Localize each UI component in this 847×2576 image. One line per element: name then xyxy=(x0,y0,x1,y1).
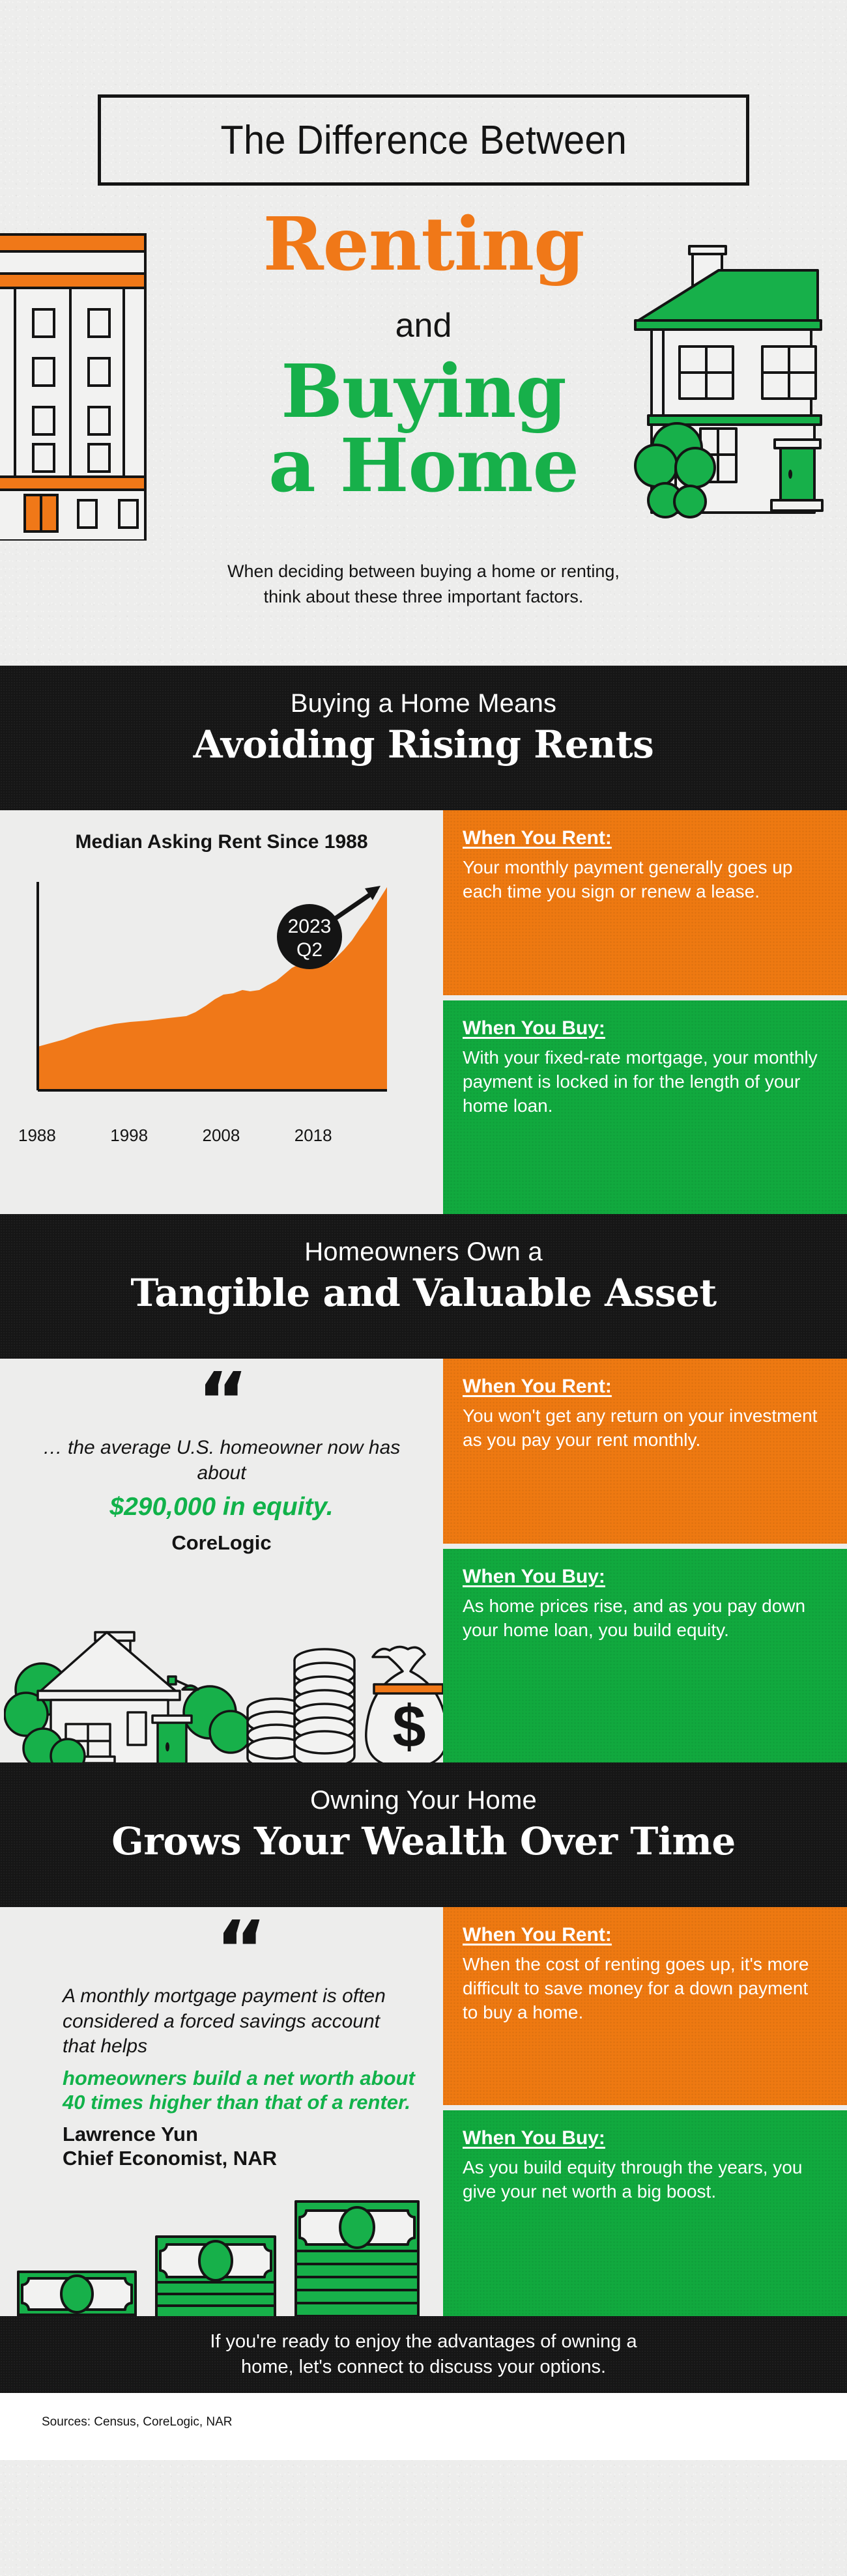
panel-divider xyxy=(443,995,847,1000)
section-3-rent-body: When the cost of renting goes up, it's m… xyxy=(463,1953,825,2025)
section-2-panels: When You Rent: You won't get any return … xyxy=(443,1359,847,1762)
section-3-rent-panel: When You Rent: When the cost of renting … xyxy=(443,1907,847,2105)
yun-quote-source-title: Chief Economist, NAR xyxy=(63,2146,417,2170)
equity-quote-column: “ … the average U.S. homeowner now has a… xyxy=(0,1359,443,1762)
word-buying-line1: Buying xyxy=(281,349,566,434)
quote-mark-icon: “ xyxy=(63,1927,417,1975)
wealth-quote-column: “ A monthly mortgage payment is often co… xyxy=(0,1907,443,2316)
section-2-rent-body: You won't get any return on your investm… xyxy=(463,1404,825,1452)
section-2-buy-heading: When You Buy: xyxy=(463,1566,825,1588)
house-coins-moneybag-illustration: $ xyxy=(4,1592,443,1762)
footer-cta: If you're ready to enjoy the advantages … xyxy=(210,2329,637,2380)
hero-subtitle: When deciding between buying a home or r… xyxy=(0,559,847,610)
yun-quote-text: A monthly mortgage payment is often cons… xyxy=(63,1984,417,2059)
word-renting: Renting xyxy=(0,208,847,281)
section-1-rent-heading: When You Rent: xyxy=(463,827,825,849)
chart-annotation-quarter: Q2 xyxy=(296,939,323,961)
panel-divider xyxy=(443,2105,847,2110)
footer-cta-line1: If you're ready to enjoy the advantages … xyxy=(210,2331,637,2352)
hero-section: The Difference Between Renting and Buyin… xyxy=(0,0,847,666)
footer-cta-line2: home, let's connect to discuss your opti… xyxy=(241,2357,606,2377)
infographic-page: The Difference Between Renting and Buyin… xyxy=(0,0,847,2576)
word-and: and xyxy=(0,306,847,345)
eyebrow-title: The Difference Between xyxy=(220,117,627,163)
chart-tick-1998: 1998 xyxy=(110,1125,202,1146)
section-1-buy-panel: When You Buy: With your fixed-rate mortg… xyxy=(443,1000,847,1214)
hero-subtitle-line2: think about these three important factor… xyxy=(0,584,847,610)
hero-subtitle-line1: When deciding between buying a home or r… xyxy=(0,559,847,584)
section-2-band: Homeowners Own a Tangible and Valuable A… xyxy=(0,1214,847,1359)
section-3-band-big: Grows Your Wealth Over Time xyxy=(0,1819,847,1863)
chart-title: Median Asking Rent Since 1988 xyxy=(0,810,443,853)
section-2-band-small: Homeowners Own a xyxy=(0,1238,847,1267)
sources-text: Sources: Census, CoreLogic, NAR xyxy=(42,2415,233,2429)
corelogic-quote: “ … the average U.S. homeowner now has a… xyxy=(0,1359,443,1555)
word-buying-line2: a Home xyxy=(0,429,847,503)
section-1-buy-body: With your fixed-rate mortgage, your mont… xyxy=(463,1046,825,1118)
section-2-rent-panel: When You Rent: You won't get any return … xyxy=(443,1359,847,1544)
panel-divider xyxy=(443,1544,847,1549)
chart-tick-2008: 2008 xyxy=(203,1125,294,1146)
chart-tick-1988: 1988 xyxy=(18,1125,110,1146)
title-box: The Difference Between xyxy=(98,94,749,186)
rent-area-chart: 2023 Q2 xyxy=(0,869,443,1123)
section-1-panels: When You Rent: Your monthly payment gene… xyxy=(443,810,847,1214)
section-3-buy-panel: When You Buy: As you build equity throug… xyxy=(443,2110,847,2316)
section-3-band-small: Owning Your Home xyxy=(0,1786,847,1815)
section-2-rent-heading: When You Rent: xyxy=(463,1376,825,1398)
yun-quote-highlight: homeowners build a net worth about 40 ti… xyxy=(63,2066,417,2114)
yun-quote-source-name: Lawrence Yun xyxy=(63,2122,417,2146)
section-3-buy-heading: When You Buy: xyxy=(463,2127,825,2149)
corelogic-quote-highlight: $290,000 in equity. xyxy=(39,1492,404,1523)
section-3-rent-heading: When You Rent: xyxy=(463,1924,825,1946)
section-3-buy-body: As you build equity through the years, y… xyxy=(463,2156,825,2204)
corelogic-quote-source: CoreLogic xyxy=(39,1531,404,1555)
chart-tick-2018: 2018 xyxy=(294,1125,386,1146)
word-buying: Buying a Home xyxy=(0,355,847,503)
section-3-panels: When You Rent: When the cost of renting … xyxy=(443,1907,847,2316)
section-1-band: Buying a Home Means Avoiding Rising Rent… xyxy=(0,666,847,810)
lawrence-yun-quote: “ A monthly mortgage payment is often co… xyxy=(0,1907,443,2170)
section-1-rent-panel: When You Rent: Your monthly payment gene… xyxy=(443,810,847,995)
footer-cta-band: If you're ready to enjoy the advantages … xyxy=(0,2316,847,2393)
section-3-band: Owning Your Home Grows Your Wealth Over … xyxy=(0,1762,847,1907)
section-1-content: Median Asking Rent Since 1988 2023 Q2 xyxy=(0,810,847,1214)
section-2-buy-body: As home prices rise, and as you pay down… xyxy=(463,1594,825,1643)
chart-annotation-year: 2023 xyxy=(288,916,332,937)
section-2-content: “ … the average U.S. homeowner now has a… xyxy=(0,1359,847,1762)
section-1-buy-heading: When You Buy: xyxy=(463,1017,825,1040)
chart-x-axis-labels: 1988 1998 2008 2018 xyxy=(18,1125,386,1146)
section-1-rent-body: Your monthly payment generally goes up e… xyxy=(463,856,825,904)
section-3-content: “ A monthly mortgage payment is often co… xyxy=(0,1907,847,2316)
dollar-sign-icon: $ xyxy=(392,1693,425,1760)
sources-bar: Sources: Census, CoreLogic, NAR xyxy=(0,2393,847,2460)
quote-mark-icon: “ xyxy=(39,1378,404,1426)
section-1-band-small: Buying a Home Means xyxy=(0,689,847,718)
section-1-band-big: Avoiding Rising Rents xyxy=(0,722,847,767)
corelogic-quote-text: … the average U.S. homeowner now has abo… xyxy=(39,1436,404,1486)
money-stacks-illustration xyxy=(12,2199,442,2316)
rent-chart-column: Median Asking Rent Since 1988 2023 Q2 xyxy=(0,810,443,1214)
section-2-buy-panel: When You Buy: As home prices rise, and a… xyxy=(443,1549,847,1762)
section-2-band-big: Tangible and Valuable Asset xyxy=(0,1271,847,1315)
